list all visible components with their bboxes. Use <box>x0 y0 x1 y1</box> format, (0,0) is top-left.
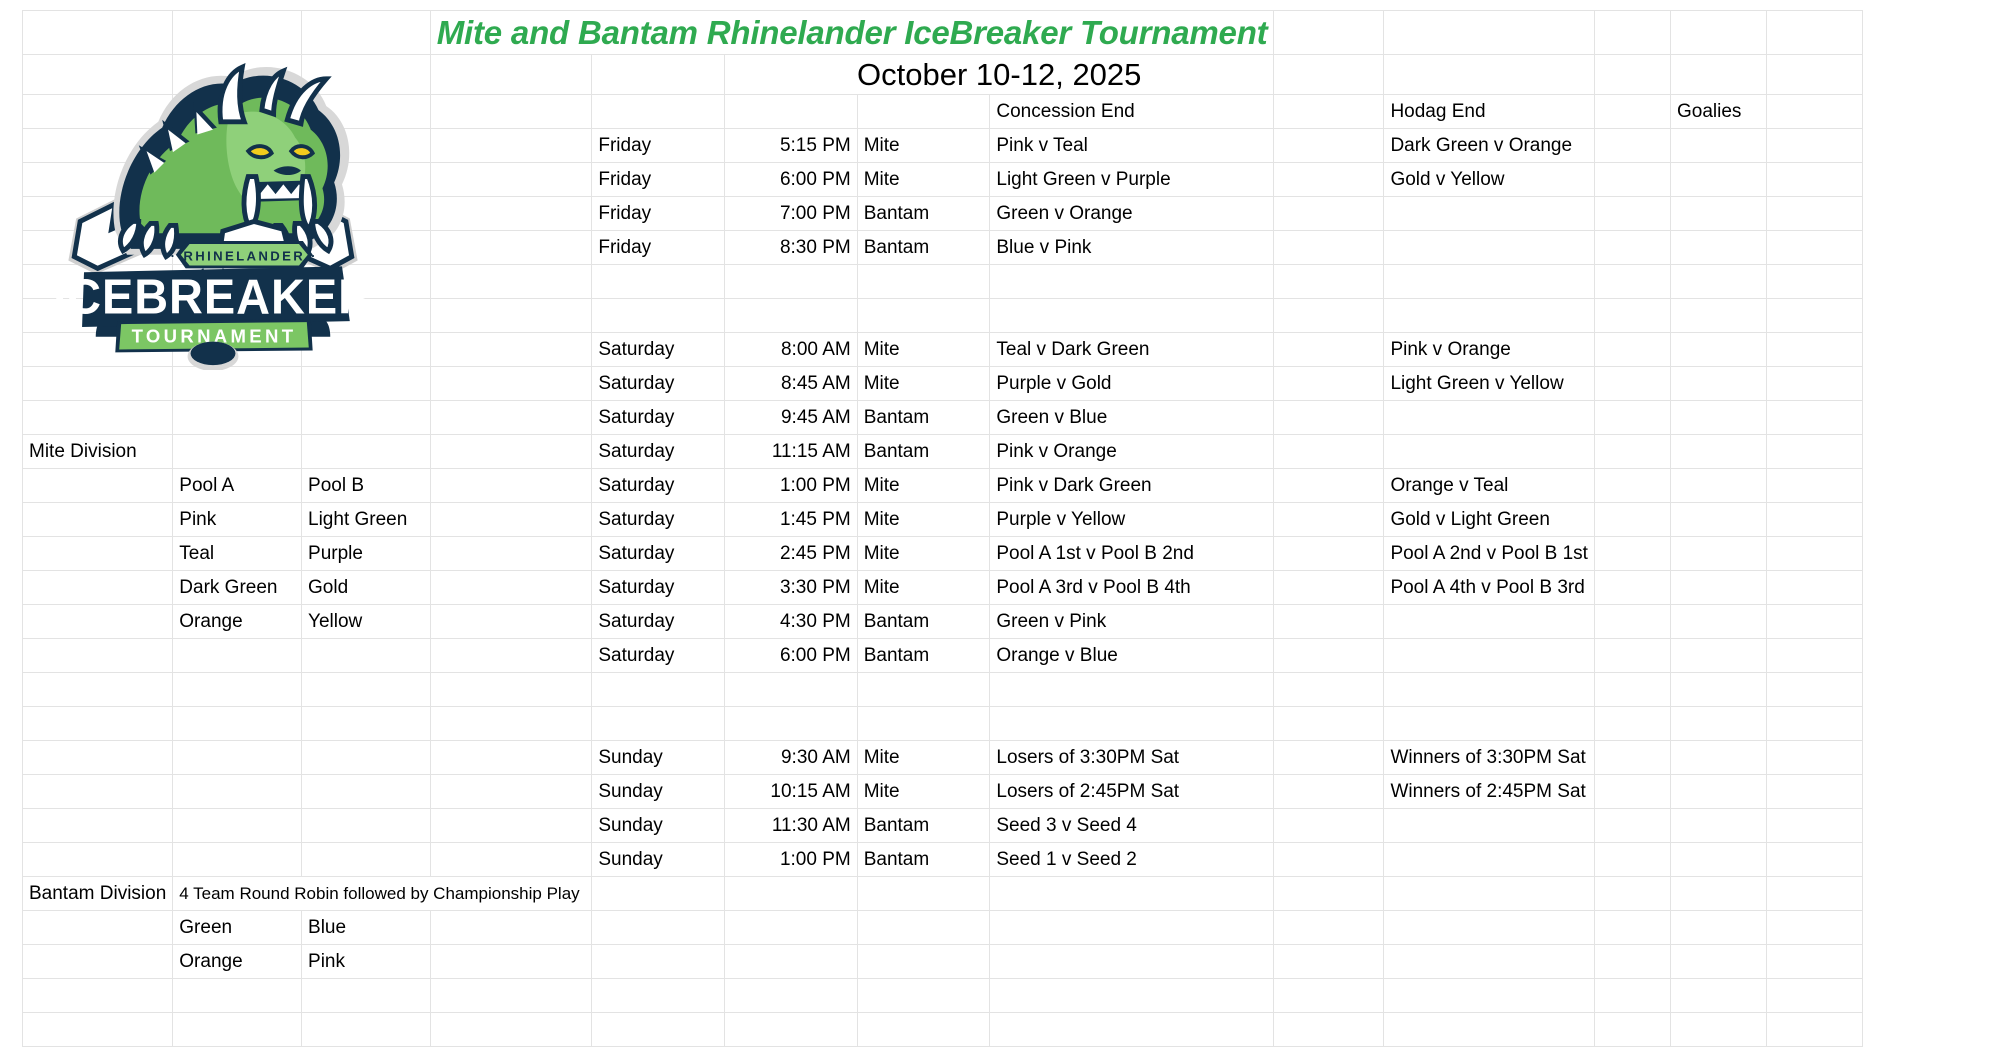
grid-cell <box>23 231 173 265</box>
grid-cell <box>1594 877 1670 911</box>
grid-row: October 10-12, 2025 <box>23 55 1863 95</box>
grid-cell <box>1594 55 1670 95</box>
schedule-hodag-matchup <box>1384 673 1595 707</box>
goalies-cell <box>1766 571 1862 605</box>
schedule-time <box>725 707 858 741</box>
schedule-division: Mite <box>857 367 990 401</box>
schedule-hodag-matchup: Winners of 3:30PM Sat <box>1384 741 1595 775</box>
goalies-cell <box>1766 673 1862 707</box>
grid-cell <box>430 163 592 197</box>
schedule-day: Sunday <box>592 843 725 877</box>
grid-cell <box>1274 163 1384 197</box>
grid-cell <box>173 163 302 197</box>
grid-cell <box>430 503 592 537</box>
grid-cell <box>1594 1013 1670 1047</box>
schedule-time: 1:45 PM <box>725 503 858 537</box>
grid-cell <box>1384 877 1595 911</box>
grid-cell <box>23 163 173 197</box>
goalies-header: Goalies <box>1670 95 1766 129</box>
goalies-cell <box>1670 741 1766 775</box>
grid-cell <box>302 979 431 1013</box>
grid-cell <box>1274 673 1384 707</box>
schedule-division: Bantam <box>857 401 990 435</box>
grid-cell <box>430 843 592 877</box>
schedule-concession-matchup: Green v Orange <box>990 197 1274 231</box>
grid-cell <box>430 265 592 299</box>
schedule-spreadsheet: Mite and Bantam Rhinelander IceBreaker T… <box>22 10 1863 1047</box>
grid-cell <box>23 809 173 843</box>
grid-cell <box>430 129 592 163</box>
mite-pool-b-team: Purple <box>302 537 431 571</box>
schedule-division: Bantam <box>857 843 990 877</box>
grid-cell <box>1274 55 1384 95</box>
grid-cell <box>430 231 592 265</box>
grid-cell <box>1274 435 1384 469</box>
grid-row: Pool APool BSaturday1:00 PMMitePink v Da… <box>23 469 1863 503</box>
grid-cell <box>1384 945 1595 979</box>
schedule-day: Saturday <box>592 367 725 401</box>
grid-cell <box>173 401 302 435</box>
grid-row: Saturday8:45 AMMitePurple v GoldLight Gr… <box>23 367 1863 401</box>
schedule-concession-matchup <box>990 673 1274 707</box>
goalies-cell <box>1670 401 1766 435</box>
grid-cell <box>23 129 173 163</box>
grid-cell <box>173 265 302 299</box>
schedule-concession-matchup: Orange v Blue <box>990 639 1274 673</box>
schedule-division <box>857 299 990 333</box>
schedule-time: 1:00 PM <box>725 843 858 877</box>
schedule-division <box>857 265 990 299</box>
schedule-hodag-matchup <box>1384 265 1595 299</box>
grid-cell <box>1274 11 1384 55</box>
grid-cell <box>430 707 592 741</box>
schedule-day: Saturday <box>592 503 725 537</box>
grid-cell <box>173 707 302 741</box>
grid-cell <box>23 469 173 503</box>
grid-cell <box>857 877 990 911</box>
goalies-cell <box>1766 367 1862 401</box>
grid-cell <box>173 673 302 707</box>
grid-cell <box>1594 605 1670 639</box>
schedule-hodag-matchup: Dark Green v Orange <box>1384 129 1595 163</box>
grid-row: GreenBlue <box>23 911 1863 945</box>
grid-cell <box>725 945 858 979</box>
mite-pool-b-team: Gold <box>302 571 431 605</box>
grid-cell <box>1274 95 1384 129</box>
goalies-cell <box>1670 299 1766 333</box>
grid-cell <box>1594 639 1670 673</box>
goalies-cell <box>1766 911 1862 945</box>
grid-cell <box>857 95 990 129</box>
schedule-time: 10:15 AM <box>725 775 858 809</box>
grid-row: Bantam Division4 Team Round Robin follow… <box>23 877 1863 911</box>
grid-cell <box>1274 571 1384 605</box>
goalies-cell <box>1670 367 1766 401</box>
mite-pool-a-team: Orange <box>173 605 302 639</box>
grid-row: Sunday9:30 AMMiteLosers of 3:30PM SatWin… <box>23 741 1863 775</box>
schedule-concession-matchup: Purple v Yellow <box>990 503 1274 537</box>
goalies-cell <box>1766 163 1862 197</box>
schedule-time <box>725 299 858 333</box>
grid-cell <box>23 639 173 673</box>
goalies-cell <box>1670 503 1766 537</box>
grid-cell <box>592 95 725 129</box>
grid-cell <box>857 911 990 945</box>
grid-cell <box>1274 1013 1384 1047</box>
schedule-hodag-matchup: Winners of 2:45PM Sat <box>1384 775 1595 809</box>
grid-cell <box>1274 707 1384 741</box>
grid-cell <box>302 163 431 197</box>
schedule-division: Mite <box>857 571 990 605</box>
schedule-day <box>592 299 725 333</box>
goalies-cell <box>1670 639 1766 673</box>
goalies-cell <box>1670 877 1766 911</box>
grid-row: Sunday1:00 PMBantamSeed 1 v Seed 2 <box>23 843 1863 877</box>
goalies-cell <box>1670 605 1766 639</box>
grid-cell <box>725 911 858 945</box>
schedule-time: 3:30 PM <box>725 571 858 605</box>
schedule-concession-matchup: Losers of 2:45PM Sat <box>990 775 1274 809</box>
schedule-concession-matchup: Green v Blue <box>990 401 1274 435</box>
schedule-division: Bantam <box>857 197 990 231</box>
schedule-division: Mite <box>857 775 990 809</box>
grid-cell <box>430 55 592 95</box>
grid-cell <box>23 333 173 367</box>
grid-cell <box>592 1013 725 1047</box>
goalies-cell <box>1766 299 1862 333</box>
grid-cell <box>302 231 431 265</box>
grid-cell <box>430 945 592 979</box>
grid-cell <box>430 435 592 469</box>
grid-row: Saturday9:45 AMBantamGreen v Blue <box>23 401 1863 435</box>
grid-cell <box>1594 401 1670 435</box>
grid-cell <box>302 11 431 55</box>
goalies-cell <box>1766 639 1862 673</box>
grid-cell <box>302 55 431 95</box>
schedule-day <box>592 673 725 707</box>
grid-cell <box>725 1013 858 1047</box>
mite-pool-a-team: Teal <box>173 537 302 571</box>
grid-cell <box>1594 537 1670 571</box>
schedule-concession-matchup: Pink v Teal <box>990 129 1274 163</box>
grid-cell <box>23 401 173 435</box>
schedule-concession-matchup: Pool A 1st v Pool B 2nd <box>990 537 1274 571</box>
grid-row: Friday7:00 PMBantamGreen v Orange <box>23 197 1863 231</box>
goalies-cell <box>1766 775 1862 809</box>
grid-row: OrangeYellowSaturday4:30 PMBantamGreen v… <box>23 605 1863 639</box>
grid-cell <box>725 979 858 1013</box>
schedule-division: Mite <box>857 129 990 163</box>
schedule-hodag-matchup: Pool A 4th v Pool B 3rd <box>1384 571 1595 605</box>
goalies-cell <box>1670 163 1766 197</box>
grid-cell <box>173 435 302 469</box>
grid-cell <box>592 55 725 95</box>
schedule-time <box>725 265 858 299</box>
grid-cell <box>1274 741 1384 775</box>
goalies-cell <box>1766 945 1862 979</box>
grid-cell <box>23 605 173 639</box>
schedule-concession-matchup: Teal v Dark Green <box>990 333 1274 367</box>
grid-cell <box>1594 775 1670 809</box>
schedule-day: Saturday <box>592 435 725 469</box>
grid-cell <box>1594 299 1670 333</box>
schedule-day: Friday <box>592 163 725 197</box>
grid-cell <box>1274 401 1384 435</box>
schedule-hodag-matchup <box>1384 401 1595 435</box>
grid-row <box>23 1013 1863 1047</box>
grid-cell <box>430 571 592 605</box>
grid-cell <box>857 1013 990 1047</box>
goalies-cell <box>1670 537 1766 571</box>
schedule-hodag-matchup <box>1384 639 1595 673</box>
grid-cell <box>725 95 858 129</box>
goalies-cell <box>1670 911 1766 945</box>
schedule-concession-matchup: Light Green v Purple <box>990 163 1274 197</box>
grid-cell <box>302 333 431 367</box>
schedule-hodag-matchup: Pink v Orange <box>1384 333 1595 367</box>
grid-row: Mite DivisionSaturday11:15 AMBantamPink … <box>23 435 1863 469</box>
grid-row <box>23 673 1863 707</box>
grid-cell <box>1274 775 1384 809</box>
goalies-cell <box>1670 469 1766 503</box>
grid-cell <box>990 1013 1274 1047</box>
grid-cell <box>302 265 431 299</box>
schedule-division: Mite <box>857 503 990 537</box>
grid-cell <box>1274 299 1384 333</box>
grid-cell <box>592 945 725 979</box>
grid-row <box>23 265 1863 299</box>
grid-cell <box>302 775 431 809</box>
grid-cell <box>1274 809 1384 843</box>
grid-cell <box>23 299 173 333</box>
grid-cell <box>173 367 302 401</box>
grid-cell <box>173 741 302 775</box>
grid-cell <box>430 775 592 809</box>
grid-row: Sunday10:15 AMMiteLosers of 2:45PM SatWi… <box>23 775 1863 809</box>
schedule-day: Saturday <box>592 605 725 639</box>
grid-cell <box>173 197 302 231</box>
grid-cell <box>1594 265 1670 299</box>
grid-cell <box>990 945 1274 979</box>
goalies-cell <box>1670 809 1766 843</box>
grid-cell <box>1594 945 1670 979</box>
schedule-day: Saturday <box>592 333 725 367</box>
grid-cell <box>302 299 431 333</box>
schedule-concession-matchup <box>990 265 1274 299</box>
schedule-concession-matchup: Seed 3 v Seed 4 <box>990 809 1274 843</box>
grid-cell <box>1274 265 1384 299</box>
grid-cell <box>430 333 592 367</box>
schedule-division: Mite <box>857 469 990 503</box>
schedule-concession-matchup: Purple v Gold <box>990 367 1274 401</box>
goalies-cell <box>1670 945 1766 979</box>
grid-cell <box>1594 843 1670 877</box>
schedule-day: Friday <box>592 197 725 231</box>
schedule-hodag-matchup: Pool A 2nd v Pool B 1st <box>1384 537 1595 571</box>
grid-cell <box>302 741 431 775</box>
grid-cell <box>23 979 173 1013</box>
goalies-cell <box>1766 469 1862 503</box>
goalies-cell <box>1766 401 1862 435</box>
schedule-time: 8:30 PM <box>725 231 858 265</box>
grid-cell <box>1766 55 1862 95</box>
schedule-time: 4:30 PM <box>725 605 858 639</box>
goalies-cell <box>1670 843 1766 877</box>
grid-cell <box>1274 639 1384 673</box>
grid-cell <box>173 775 302 809</box>
grid-cell <box>1274 469 1384 503</box>
mite-pool-b-team: Yellow <box>302 605 431 639</box>
grid-cell <box>1594 469 1670 503</box>
grid-cell <box>1594 707 1670 741</box>
grid-cell <box>173 231 302 265</box>
grid-cell <box>1274 197 1384 231</box>
grid-row: TealPurpleSaturday2:45 PMMitePool A 1st … <box>23 537 1863 571</box>
goalies-cell <box>1766 95 1862 129</box>
goalies-cell <box>1670 265 1766 299</box>
grid-cell <box>430 809 592 843</box>
grid-cell <box>23 55 173 95</box>
goalies-cell <box>1766 265 1862 299</box>
grid-cell <box>592 877 725 911</box>
grid-cell <box>302 673 431 707</box>
grid-cell <box>302 809 431 843</box>
bantam-format-note: 4 Team Round Robin followed by Champions… <box>173 877 592 911</box>
grid-cell <box>1594 571 1670 605</box>
schedule-time: 2:45 PM <box>725 537 858 571</box>
grid-cell <box>430 367 592 401</box>
schedule-hodag-matchup: Orange v Teal <box>1384 469 1595 503</box>
schedule-concession-matchup: Pink v Orange <box>990 435 1274 469</box>
grid-cell <box>430 911 592 945</box>
schedule-hodag-matchup <box>1384 843 1595 877</box>
grid-cell <box>1274 231 1384 265</box>
goalies-cell <box>1766 605 1862 639</box>
schedule-division: Bantam <box>857 809 990 843</box>
schedule-division: Mite <box>857 163 990 197</box>
schedule-hodag-matchup: Light Green v Yellow <box>1384 367 1595 401</box>
grid-cell <box>23 843 173 877</box>
grid-cell <box>1594 367 1670 401</box>
grid-cell <box>302 843 431 877</box>
grid-cell <box>23 707 173 741</box>
grid-cell <box>1594 911 1670 945</box>
grid-cell <box>1594 673 1670 707</box>
mite-pool-a-team: Pink <box>173 503 302 537</box>
grid-cell <box>302 367 431 401</box>
schedule-hodag-matchup: Gold v Light Green <box>1384 503 1595 537</box>
grid-cell <box>173 55 302 95</box>
grid-cell <box>430 1013 592 1047</box>
grid-cell <box>1594 11 1670 55</box>
hodag-end-header: Hodag End <box>1384 95 1595 129</box>
spreadsheet-canvas: Mite and Bantam Rhinelander IceBreaker T… <box>0 0 2000 1032</box>
mite-pool-a-header: Pool A <box>173 469 302 503</box>
page-subtitle-date: October 10-12, 2025 <box>725 55 1274 95</box>
grid-cell <box>430 401 592 435</box>
schedule-time: 1:00 PM <box>725 469 858 503</box>
schedule-division: Bantam <box>857 639 990 673</box>
grid-cell <box>23 911 173 945</box>
grid-cell <box>23 503 173 537</box>
schedule-hodag-matchup <box>1384 231 1595 265</box>
grid-cell <box>1594 503 1670 537</box>
grid-row: Mite and Bantam Rhinelander IceBreaker T… <box>23 11 1863 55</box>
grid-cell <box>173 95 302 129</box>
grid-cell <box>1594 231 1670 265</box>
goalies-cell <box>1670 197 1766 231</box>
schedule-concession-matchup <box>990 707 1274 741</box>
schedule-division: Bantam <box>857 605 990 639</box>
goalies-cell <box>1766 129 1862 163</box>
grid-cell <box>1594 809 1670 843</box>
grid-cell <box>1274 605 1384 639</box>
schedule-time: 9:30 AM <box>725 741 858 775</box>
schedule-hodag-matchup <box>1384 707 1595 741</box>
grid-cell <box>430 469 592 503</box>
schedule-concession-matchup: Blue v Pink <box>990 231 1274 265</box>
bantam-team: Pink <box>302 945 431 979</box>
schedule-time <box>725 673 858 707</box>
goalies-cell <box>1766 707 1862 741</box>
grid-cell <box>302 707 431 741</box>
grid-cell <box>592 979 725 1013</box>
bantam-team: Green <box>173 911 302 945</box>
grid-cell <box>592 911 725 945</box>
grid-cell <box>1274 333 1384 367</box>
grid-row: OrangePink <box>23 945 1863 979</box>
goalies-cell <box>1670 129 1766 163</box>
grid-cell <box>302 197 431 231</box>
grid-cell <box>1594 333 1670 367</box>
schedule-time: 9:45 AM <box>725 401 858 435</box>
bantam-team: Blue <box>302 911 431 945</box>
grid-cell <box>1384 11 1595 55</box>
grid-cell <box>302 1013 431 1047</box>
schedule-day <box>592 707 725 741</box>
schedule-time: 5:15 PM <box>725 129 858 163</box>
goalies-cell <box>1766 877 1862 911</box>
grid-cell <box>990 979 1274 1013</box>
schedule-concession-matchup: Pink v Dark Green <box>990 469 1274 503</box>
grid-cell <box>23 741 173 775</box>
mite-pool-b-team: Light Green <box>302 503 431 537</box>
grid-cell <box>23 1013 173 1047</box>
schedule-day: Saturday <box>592 469 725 503</box>
schedule-time: 6:00 PM <box>725 639 858 673</box>
bantam-team: Orange <box>173 945 302 979</box>
goalies-cell <box>1670 435 1766 469</box>
grid-cell <box>302 95 431 129</box>
grid-cell <box>173 299 302 333</box>
grid-cell <box>23 11 173 55</box>
goalies-cell <box>1670 775 1766 809</box>
grid-cell <box>1594 197 1670 231</box>
schedule-day: Saturday <box>592 537 725 571</box>
schedule-division: Mite <box>857 741 990 775</box>
grid-cell <box>430 299 592 333</box>
schedule-day: Sunday <box>592 741 725 775</box>
goalies-cell <box>1766 809 1862 843</box>
grid-cell <box>173 809 302 843</box>
schedule-division: Bantam <box>857 435 990 469</box>
goalies-cell <box>1766 435 1862 469</box>
mite-division-label: Mite Division <box>23 435 173 469</box>
grid-row: Saturday6:00 PMBantamOrange v Blue <box>23 639 1863 673</box>
schedule-time: 8:00 AM <box>725 333 858 367</box>
grid-cell <box>23 197 173 231</box>
grid-cell <box>1384 911 1595 945</box>
